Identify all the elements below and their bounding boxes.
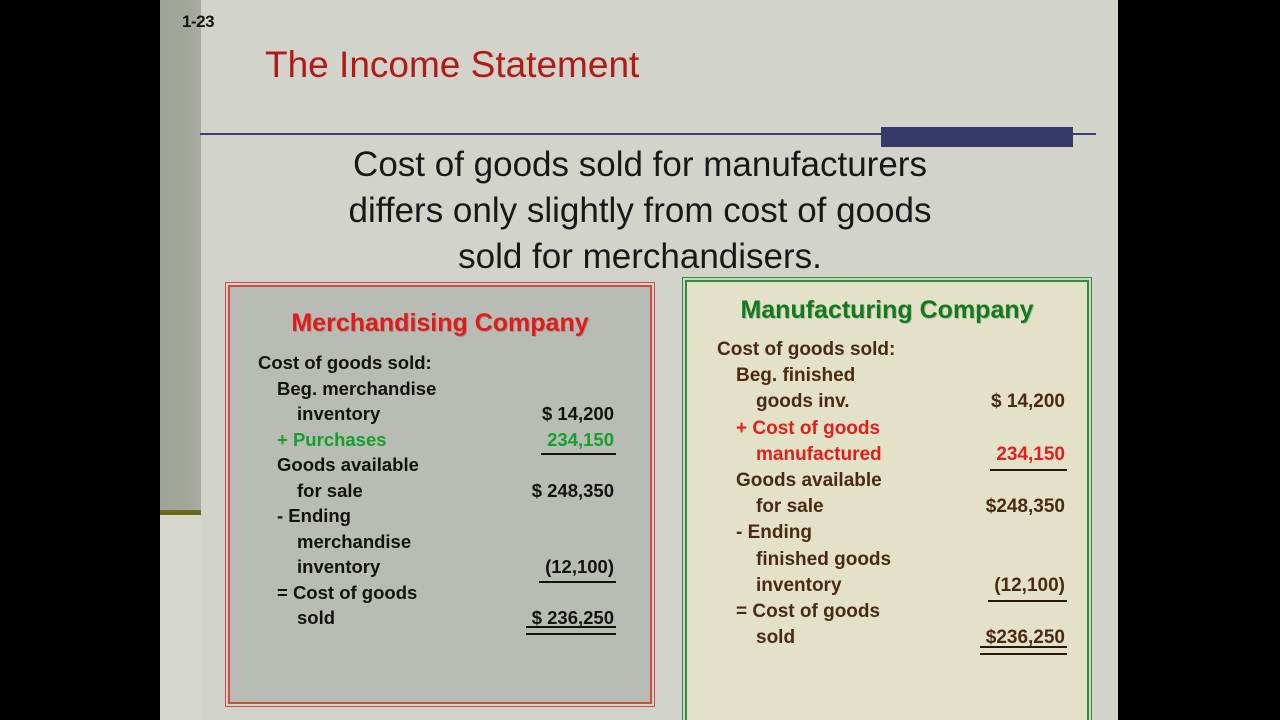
row-label: manufactured [717,442,882,468]
table-row: for sale $ 248,350 [258,478,650,504]
table-row: inventory $ 14,200 [258,401,650,427]
row-amount: 234,150 [996,442,1065,468]
row-label: = Cost of goods [717,599,880,625]
statement-line-1: Cost of goods sold for manufacturers [220,142,1060,188]
table-row: = Cost of goods [717,599,1087,625]
table-row: goods inv. $ 14,200 [717,389,1087,415]
table-row: sold $ 236,250 [258,605,650,631]
merchandising-company-panel: Merchandising Company Cost of goods sold… [228,285,652,704]
row-label: sold [717,625,795,651]
row-label: Beg. merchandise [258,376,436,402]
row-amount: 234,150 [547,427,614,453]
statement-text: Cost of goods sold for manufacturers dif… [220,142,1060,280]
statement-line-2: differs only slightly from cost of goods [220,188,1060,234]
table-row: finished goods [717,547,1087,573]
row-label: for sale [258,478,363,504]
row-label: goods inv. [717,389,850,415]
table-row: - Ending [258,503,650,529]
table-row: Cost of goods sold: [717,337,1087,363]
row-label: - Ending [717,520,812,546]
row-label: inventory [717,573,842,599]
table-row: + Cost of goods [717,416,1087,442]
manufacturing-company-panel: Manufacturing Company Cost of goods sold… [685,280,1089,720]
table-row: for sale $248,350 [717,494,1087,520]
merchandising-cogs-table: Cost of goods sold: Beg. merchandise inv… [230,350,650,631]
table-row: Goods available [717,468,1087,494]
row-label: inventory [258,554,380,580]
row-amount: $ 14,200 [991,389,1065,415]
row-label: Cost of goods sold: [258,350,432,376]
row-label: inventory [258,401,380,427]
table-row: merchandise [258,529,650,555]
row-label: + Cost of goods [717,416,880,442]
row-label: Goods available [717,468,882,494]
row-amount: (12,100) [994,573,1065,599]
slide-canvas: 1-23 The Income Statement Cost of goods … [160,0,1118,720]
presentation-viewport: 1-23 The Income Statement Cost of goods … [0,0,1280,720]
row-label: + Purchases [258,427,387,453]
row-label: - Ending [258,503,351,529]
table-row: - Ending [717,520,1087,546]
table-row: + Purchases 234,150 [258,427,650,453]
table-row: sold $236,250 [717,625,1087,651]
table-row: Beg. finished [717,363,1087,389]
merchandising-panel-title: Merchandising Company [230,309,650,338]
table-row: manufactured 234,150 [717,442,1087,468]
manufacturing-panel-title: Manufacturing Company [687,296,1087,325]
template-left-strip-light [160,515,201,720]
table-row: inventory (12,100) [717,573,1087,599]
row-amount: $ 14,200 [542,401,614,427]
row-label: sold [258,605,335,631]
row-amount: $ 248,350 [532,478,614,504]
row-label: merchandise [258,529,411,555]
page-title: The Income Statement [265,44,639,86]
manufacturing-cogs-table: Cost of goods sold: Beg. finished goods … [687,337,1087,651]
row-label: for sale [717,494,824,520]
row-amount: $248,350 [986,494,1065,520]
table-row: Cost of goods sold: [258,350,650,376]
slide-number: 1-23 [182,12,214,32]
table-row: Beg. merchandise [258,376,650,402]
table-row: inventory (12,100) [258,554,650,580]
row-label: Goods available [258,452,419,478]
row-label: = Cost of goods [258,580,417,606]
row-amount: $ 236,250 [532,605,614,631]
row-label: Cost of goods sold: [717,337,895,363]
row-label: Beg. finished [717,363,855,389]
table-row: Goods available [258,452,650,478]
row-amount: (12,100) [545,554,614,580]
statement-line-3: sold for merchandisers. [220,234,1060,280]
row-amount: $236,250 [986,625,1065,651]
table-row: = Cost of goods [258,580,650,606]
row-label: finished goods [717,547,891,573]
template-left-strip-dark [160,0,201,512]
